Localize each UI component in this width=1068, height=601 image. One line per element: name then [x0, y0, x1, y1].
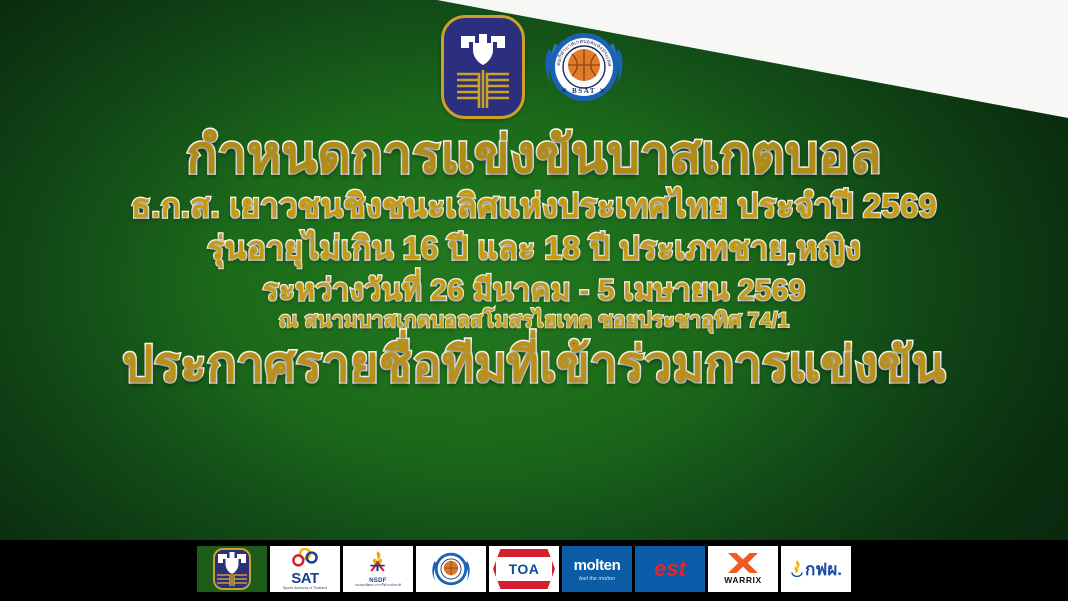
toa-badge-icon: TOA: [493, 549, 555, 589]
sponsor-nsdf: NSDF กองทุนพัฒนาการกีฬาแห่งชาติ: [343, 546, 413, 592]
sat-sub: Sports Authority of Thailand: [270, 587, 340, 590]
title-line-4: ระหว่างวันที่ 26 มีนาคม - 5 เมษายน 2569: [0, 275, 1068, 307]
sponsor-baac: [197, 546, 267, 592]
poster-text-block: กำหนดการแข่งขันบาสเกตบอล ธ.ก.ส. เยาวชนชิ…: [0, 128, 1068, 392]
bsat-logo: ✕ BSAT ✕ สมาคมกีฬาบาสเกตบอลแห่งประเทศไทย: [541, 21, 627, 113]
toa-label: TOA: [505, 561, 544, 577]
sponsor-bsat: [416, 546, 486, 592]
sponsor-toa: TOA: [489, 546, 559, 592]
poster-canvas: ✕ BSAT ✕ สมาคมกีฬาบาสเกตบอลแห่งประเทศไทย…: [0, 0, 1068, 601]
nsdf-sub: กองทุนพัฒนาการกีฬาแห่งชาติ: [355, 584, 401, 587]
sat-label: SAT: [291, 570, 318, 587]
bsat-small-icon: [430, 548, 472, 590]
baac-small-emblem-icon: [215, 550, 249, 588]
bsat-emblem-icon: ✕ BSAT ✕ สมาคมกีฬาบาสเกตบอลแห่งประเทศไทย: [541, 21, 627, 113]
baac-emblem-icon: [457, 32, 509, 66]
egat-flame-icon: [790, 559, 804, 579]
baac-logo: [441, 15, 525, 119]
sponsor-egat: กฟผ.: [781, 546, 851, 592]
sat-mark-icon: [285, 548, 325, 567]
nsdf-mark-icon: [364, 550, 391, 574]
molten-label: molten: [574, 557, 621, 574]
sponsor-est: est: [635, 546, 705, 592]
title-line-3: รุ่นอายุไม่เกิน 16 ปี และ 18 ปี ประเภทชา…: [0, 232, 1068, 266]
warrix-x-icon: [728, 553, 758, 573]
venue-line: ณ สนามบาสเกตบอลสโมสรไฮเทค ซอยประชาอุทิศ …: [0, 310, 1068, 332]
est-label: est: [654, 558, 686, 580]
sponsor-molten: molten feel the motion: [562, 546, 632, 592]
sponsor-warrix: WARRIX: [708, 546, 778, 592]
molten-tagline: feel the motion: [574, 576, 621, 582]
baac-stripes-icon: [455, 68, 511, 110]
title-line-2: ธ.ก.ส. เยาวชนชิงชนะเลิศแห่งประเทศไทย ประ…: [0, 189, 1068, 224]
baac-small-icon: [213, 548, 251, 590]
warrix-label: WARRIX: [724, 575, 762, 585]
announcement-line: ประกาศรายชื่อทีมที่เข้าร่วมการแข่งขัน: [0, 340, 1068, 392]
sponsor-sat: SAT Sports Authority of Thailand: [270, 546, 340, 592]
header-logo-group: ✕ BSAT ✕ สมาคมกีฬาบาสเกตบอลแห่งประเทศไทย: [0, 17, 1068, 117]
egat-label: กฟผ.: [805, 561, 842, 578]
sponsor-logo-strip: SAT Sports Authority of Thailand NSDF กอ…: [197, 546, 851, 592]
svg-text:✕ BSAT ✕: ✕ BSAT ✕: [561, 87, 607, 95]
title-line-1: กำหนดการแข่งขันบาสเกตบอล: [0, 128, 1068, 183]
